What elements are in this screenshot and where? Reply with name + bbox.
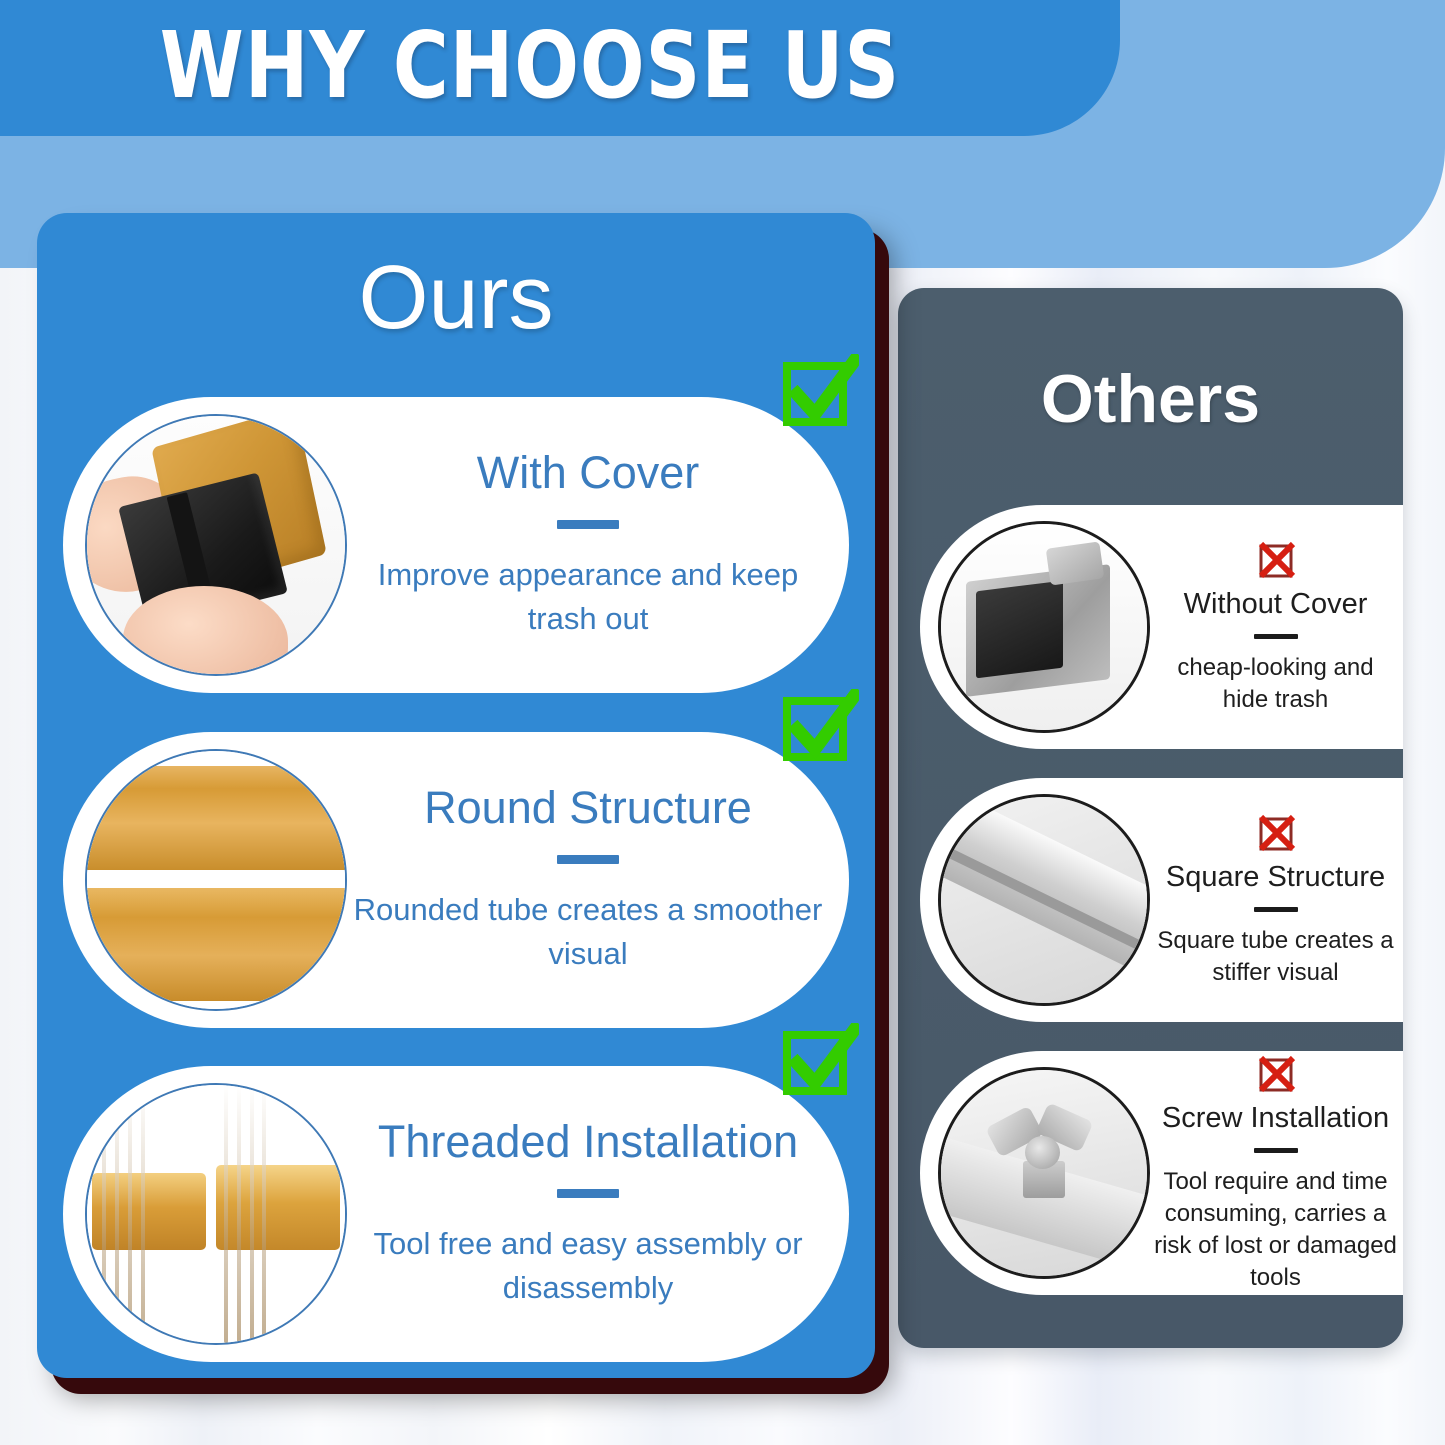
- divider: [557, 1189, 619, 1198]
- threaded-tube-ends-photo: [85, 1083, 347, 1345]
- ours-feature-body-2: Rounded tube creates a smoother visual: [353, 888, 823, 976]
- green-check-icon: [781, 689, 859, 767]
- divider: [1254, 1148, 1298, 1153]
- ours-feature-row-1: With Cover Improve appearance and keep t…: [63, 397, 849, 693]
- page-title: WHY CHOOSE US: [42, 16, 1017, 115]
- others-feature-body-3: Tool require and time consuming, carries…: [1154, 1166, 1397, 1294]
- others-panel-title: Others: [898, 360, 1403, 438]
- divider: [557, 520, 619, 529]
- square-gray-tube-photo: [938, 794, 1150, 1006]
- ours-feature-title-1: With Cover: [353, 449, 823, 496]
- green-check-icon: [781, 354, 859, 432]
- ours-feature-row-2: Round Structure Rounded tube creates a s…: [63, 732, 849, 1028]
- others-feature-row-1: Without Cover cheap-looking and hide tra…: [920, 505, 1403, 749]
- divider: [1254, 907, 1298, 912]
- red-cross-icon: [1254, 811, 1298, 855]
- others-feature-text-3: Screw Installation Tool require and time…: [1150, 1052, 1403, 1294]
- others-feature-title-2: Square Structure: [1154, 861, 1397, 894]
- divider: [557, 855, 619, 864]
- others-feature-title-3: Screw Installation: [1154, 1102, 1397, 1135]
- ours-feature-title-3: Threaded Installation: [353, 1118, 823, 1165]
- ours-feature-text-3: Threaded Installation Tool free and easy…: [347, 1118, 849, 1310]
- divider: [1254, 634, 1298, 639]
- green-check-icon: [781, 1023, 859, 1101]
- red-cross-icon: [1254, 538, 1298, 582]
- round-gold-tube-photo: [85, 749, 347, 1011]
- ours-feature-body-1: Improve appearance and keep trash out: [353, 553, 823, 641]
- others-feature-row-2: Square Structure Square tube creates a s…: [920, 778, 1403, 1022]
- gold-tube-with-black-cover-photo: [85, 414, 347, 676]
- others-feature-text-1: Without Cover cheap-looking and hide tra…: [1150, 538, 1403, 716]
- red-cross-icon: [1254, 1052, 1298, 1096]
- ours-feature-text-1: With Cover Improve appearance and keep t…: [347, 449, 849, 641]
- open-square-steel-tube-photo: [938, 521, 1150, 733]
- wing-nut-screw-photo: [938, 1067, 1150, 1279]
- others-feature-body-2: Square tube creates a stiffer visual: [1154, 925, 1397, 989]
- ours-feature-body-3: Tool free and easy assembly or disassemb…: [353, 1222, 823, 1310]
- ours-feature-title-2: Round Structure: [353, 784, 823, 831]
- others-feature-body-1: cheap-looking and hide trash: [1154, 652, 1397, 716]
- infographic-canvas: WHY CHOOSE US Others Without Cover cheap…: [0, 0, 1445, 1445]
- ours-card-title: Ours: [37, 253, 875, 343]
- others-feature-text-2: Square Structure Square tube creates a s…: [1150, 811, 1403, 989]
- ours-feature-row-3: Threaded Installation Tool free and easy…: [63, 1066, 849, 1362]
- others-feature-row-3: Screw Installation Tool require and time…: [920, 1051, 1403, 1295]
- others-feature-title-1: Without Cover: [1154, 588, 1397, 621]
- ours-feature-text-2: Round Structure Rounded tube creates a s…: [347, 784, 849, 976]
